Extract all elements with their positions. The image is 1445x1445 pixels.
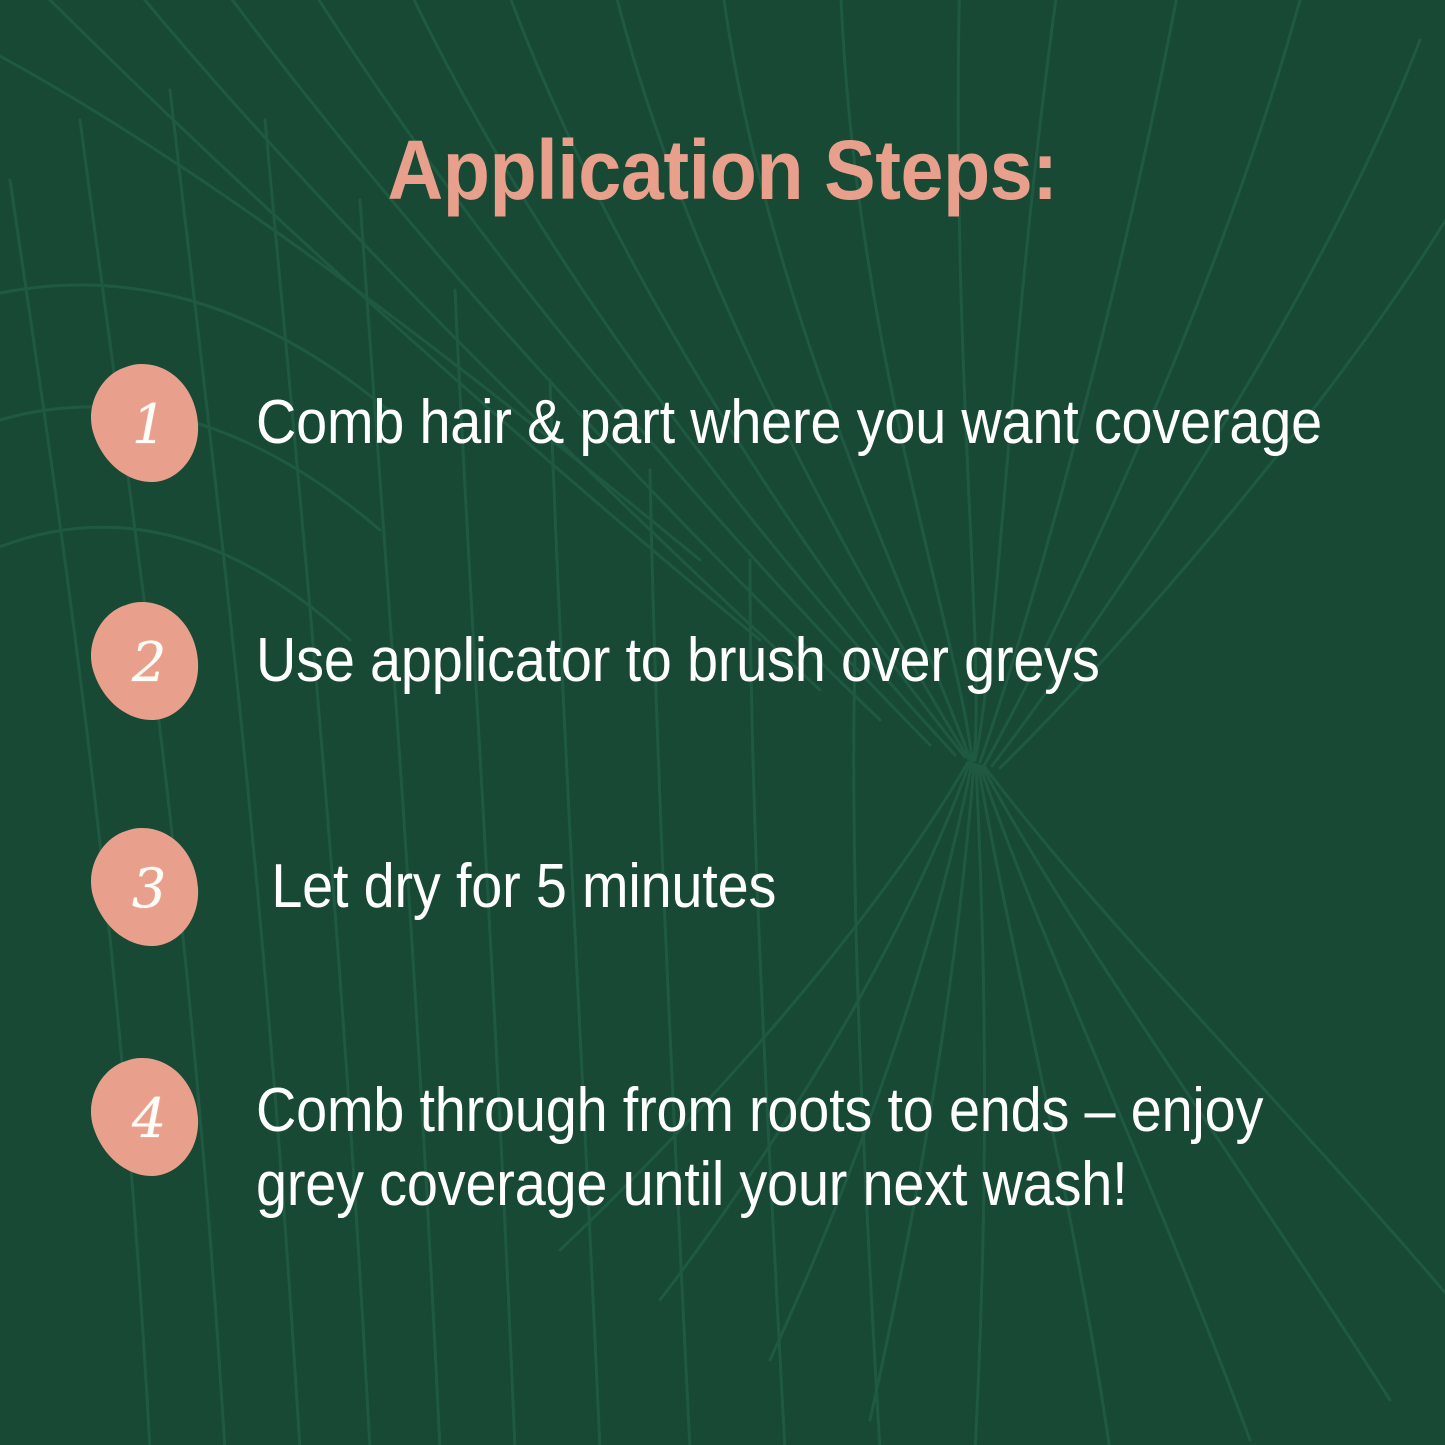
application-steps-poster: Application Steps: 1 Comb hair & part wh… (0, 0, 1445, 1445)
list-item: 2 Use applicator to brush over greys (88, 600, 1193, 722)
list-item: 1 Comb hair & part where you want covera… (88, 362, 1440, 484)
teardrop-badge-icon: 4 (88, 1056, 200, 1178)
step-number: 2 (88, 600, 200, 722)
step-text: Use applicator to brush over greys (256, 624, 1100, 698)
application-steps-list: 1 Comb hair & part where you want covera… (0, 0, 1445, 1445)
teardrop-badge-icon: 2 (88, 600, 200, 722)
step-number: 4 (88, 1056, 200, 1178)
step-text: Comb hair & part where you want coverage (256, 386, 1322, 460)
step-number: 1 (88, 362, 200, 484)
step-text: Let dry for 5 minutes (256, 850, 776, 924)
step-number: 3 (88, 826, 200, 948)
step-text: Comb through from roots to ends – enjoy … (256, 1074, 1263, 1222)
teardrop-badge-icon: 3 (88, 826, 200, 948)
teardrop-badge-icon: 1 (88, 362, 200, 484)
list-item: 3 Let dry for 5 minutes (88, 826, 834, 948)
list-item: 4 Comb through from roots to ends – enjo… (88, 1056, 1375, 1222)
